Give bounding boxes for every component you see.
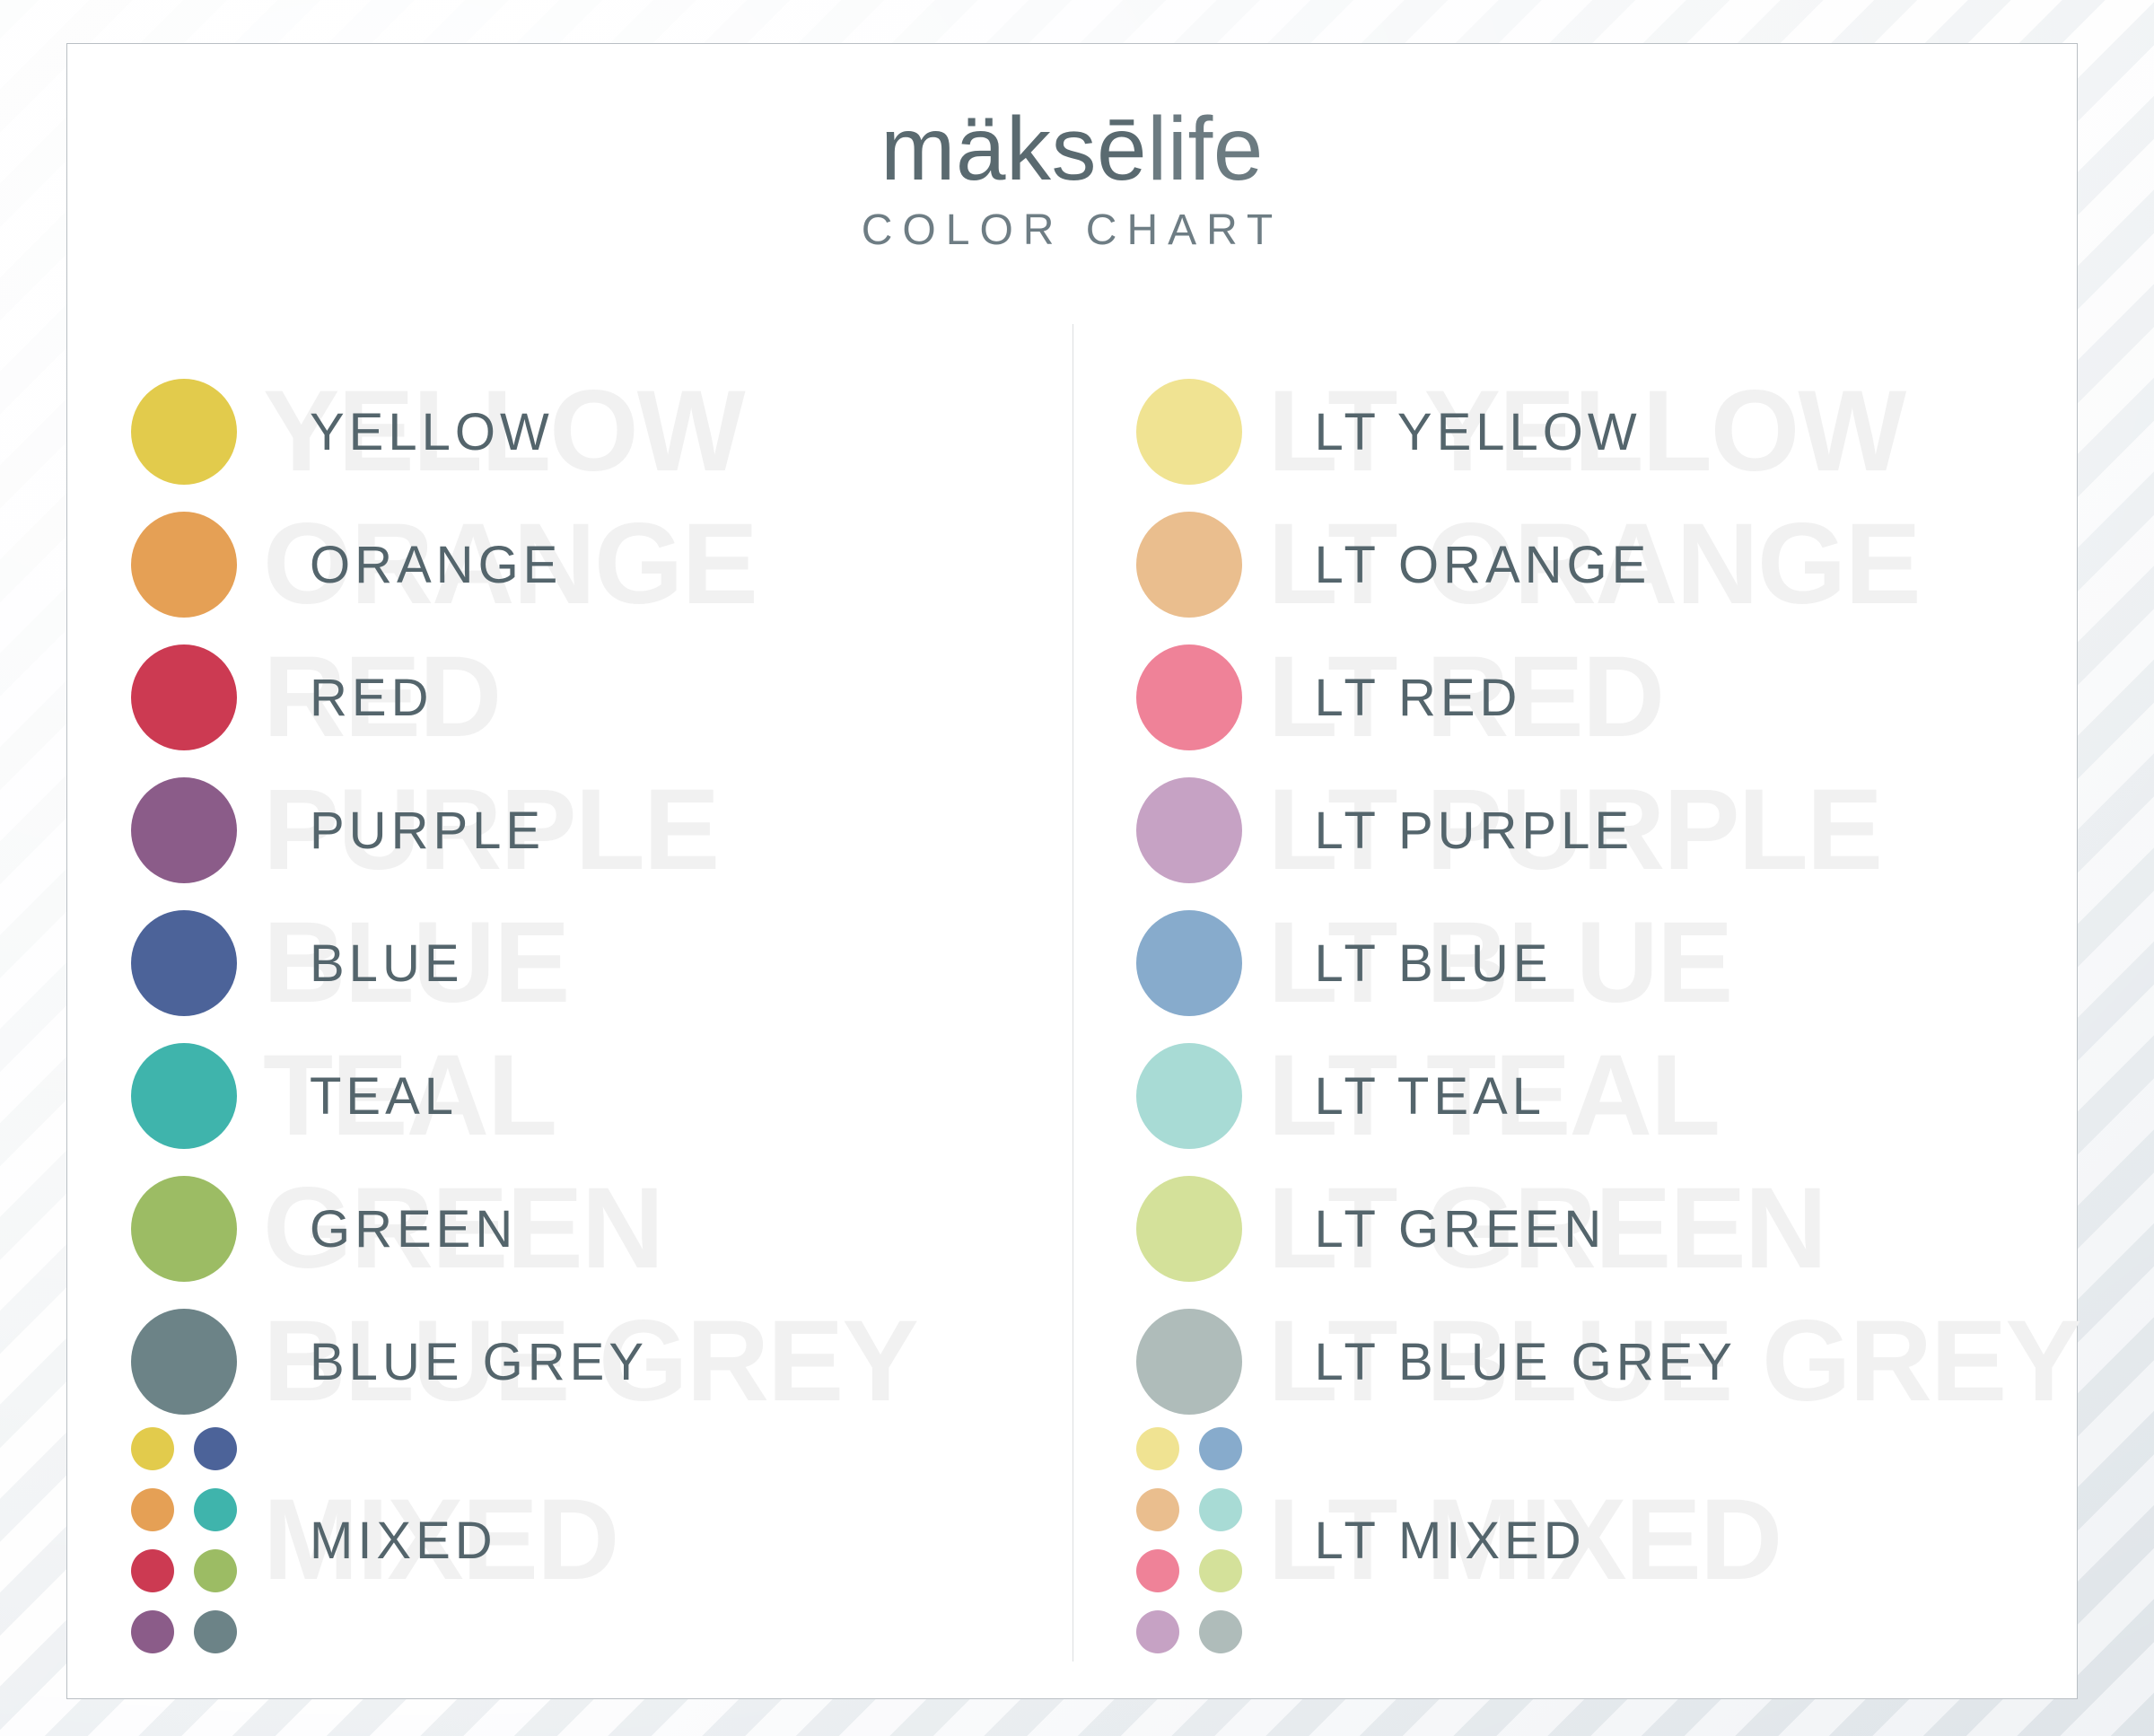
color-label-wrap: REDRED	[263, 631, 1073, 764]
color-row: LT REDLT RED	[1073, 631, 2078, 764]
color-swatch-dot	[131, 379, 237, 485]
page-title: COLOR CHART	[67, 206, 2077, 255]
column-light-colors: LT YELLOWLT YELLOWLT ORANGELT ORANGELT R…	[1073, 313, 2078, 1653]
color-swatch-dot	[1136, 644, 1242, 750]
color-swatch-cell	[1110, 1427, 1268, 1653]
color-swatch-dot	[131, 1176, 237, 1282]
color-row: LT YELLOWLT YELLOW	[1073, 365, 2078, 498]
color-label-wrap: LT REDLT RED	[1268, 631, 2078, 764]
mixed-swatch-dot	[131, 1610, 174, 1653]
color-row: PURPLEPURPLE	[67, 764, 1073, 897]
color-swatch-cell	[1110, 512, 1268, 618]
brand-logo-life: life	[1147, 99, 1264, 199]
color-row: LT TEALLT TEAL	[1073, 1030, 2078, 1162]
color-label-wrap: LT GREENLT GREEN	[1268, 1162, 2078, 1295]
color-chart-card: mäksēlife COLOR CHART YELLOWYELLOWORANGE…	[66, 43, 2078, 1699]
color-swatch-dot	[131, 777, 237, 883]
column-standard-colors: YELLOWYELLOWORANGEORANGEREDREDPURPLEPURP…	[67, 313, 1073, 1653]
color-swatch-cell	[105, 1043, 263, 1149]
color-label: LT PURPLE	[1315, 801, 1634, 861]
mixed-swatch-dot	[131, 1427, 174, 1470]
color-swatch-dot	[1136, 910, 1242, 1016]
color-label-wrap: LT BLUELT BLUE	[1268, 897, 2078, 1030]
color-swatch-dot	[1136, 379, 1242, 485]
color-label-wrap: LT ORANGELT ORANGE	[1268, 498, 2078, 631]
mixed-swatch-dot	[1199, 1427, 1242, 1470]
mixed-swatch-grid	[131, 1427, 237, 1653]
color-swatch-cell	[105, 1427, 263, 1653]
color-swatch-cell	[105, 910, 263, 1016]
color-row: LT GREENLT GREEN	[1073, 1162, 2078, 1295]
mixed-swatch-dot	[1136, 1549, 1179, 1592]
color-label-wrap: LT PURPLELT PURPLE	[1268, 764, 2078, 897]
color-label-wrap: LT MIXEDLT MIXED	[1268, 1428, 2078, 1653]
color-row: LT BLUE GREYLT BLUE GREY	[1073, 1295, 2078, 1428]
color-label: LT GREEN	[1315, 1199, 1607, 1259]
color-label-wrap: BLUEBLUE	[263, 897, 1073, 1030]
mixed-swatch-dot	[131, 1549, 174, 1592]
color-label-wrap: BLUE GREYBLUE GREY	[263, 1295, 1073, 1428]
color-swatch-dot	[131, 1043, 237, 1149]
color-label: LT MIXED	[1315, 1511, 1586, 1571]
color-label: TEAL	[310, 1066, 458, 1127]
color-label-wrap: MIXEDMIXED	[263, 1428, 1073, 1653]
color-row: LT MIXEDLT MIXED	[1073, 1428, 2078, 1653]
color-label: YELLOW	[310, 402, 554, 462]
color-swatch-cell	[1110, 910, 1268, 1016]
color-label: LT ORANGE	[1315, 535, 1651, 595]
color-swatch-dot	[1136, 1309, 1242, 1415]
color-label: LT TEAL	[1315, 1066, 1545, 1127]
color-label-wrap: LT YELLOWLT YELLOW	[1268, 365, 2078, 498]
color-swatch-cell	[1110, 1043, 1268, 1149]
color-swatch-dot	[131, 910, 237, 1016]
color-swatch-dot	[1136, 1176, 1242, 1282]
color-label-wrap: GREENGREEN	[263, 1162, 1073, 1295]
color-row: BLUEBLUE	[67, 897, 1073, 1030]
color-swatch-dot	[131, 644, 237, 750]
color-row: GREENGREEN	[67, 1162, 1073, 1295]
color-row: LT ORANGELT ORANGE	[1073, 498, 2078, 631]
color-row: MIXEDMIXED	[67, 1428, 1073, 1653]
mixed-swatch-dot	[1199, 1488, 1242, 1531]
color-label: GREEN	[310, 1199, 517, 1259]
mixed-swatch-dot	[194, 1549, 237, 1592]
color-swatch-cell	[1110, 1309, 1268, 1415]
color-row: YELLOWYELLOW	[67, 365, 1073, 498]
color-swatch-dot	[131, 1309, 237, 1415]
mixed-swatch-dot	[194, 1488, 237, 1531]
color-label: LT YELLOW	[1315, 402, 1642, 462]
mixed-swatch-dot	[1199, 1549, 1242, 1592]
color-label-wrap: YELLOWYELLOW	[263, 365, 1073, 498]
color-row: REDRED	[67, 631, 1073, 764]
color-label-wrap: TEALTEAL	[263, 1030, 1073, 1162]
color-label: BLUE GREY	[310, 1332, 648, 1392]
color-row: BLUE GREYBLUE GREY	[67, 1295, 1073, 1428]
color-swatch-cell	[1110, 644, 1268, 750]
color-label-wrap: ORANGEORANGE	[263, 498, 1073, 631]
color-swatch-dot	[1136, 1043, 1242, 1149]
mixed-swatch-dot	[1136, 1488, 1179, 1531]
color-row: ORANGEORANGE	[67, 498, 1073, 631]
mixed-swatch-dot	[1136, 1427, 1179, 1470]
color-swatch-cell	[105, 1176, 263, 1282]
color-columns: YELLOWYELLOWORANGEORANGEREDREDPURPLEPURP…	[67, 313, 2077, 1653]
color-swatch-dot	[1136, 512, 1242, 618]
color-row: LT PURPLELT PURPLE	[1073, 764, 2078, 897]
mixed-swatch-dot	[1199, 1610, 1242, 1653]
color-swatch-cell	[105, 379, 263, 485]
brand-logo: mäksēlife	[67, 103, 2077, 195]
mixed-swatch-grid	[1136, 1427, 1242, 1653]
color-swatch-cell	[105, 512, 263, 618]
color-label: LT BLUE GREY	[1315, 1332, 1737, 1392]
brand-logo-mak: mäksē	[880, 99, 1147, 199]
mixed-swatch-dot	[194, 1610, 237, 1653]
color-row: TEALTEAL	[67, 1030, 1073, 1162]
color-swatch-cell	[1110, 777, 1268, 883]
color-label-wrap: LT TEALLT TEAL	[1268, 1030, 2078, 1162]
color-swatch-dot	[131, 512, 237, 618]
color-row: LT BLUELT BLUE	[1073, 897, 2078, 1030]
color-swatch-cell	[1110, 1176, 1268, 1282]
color-swatch-cell	[105, 777, 263, 883]
color-label-wrap: LT BLUE GREYLT BLUE GREY	[1268, 1295, 2078, 1428]
color-label: LT BLUE	[1315, 934, 1553, 994]
color-label: RED	[310, 668, 433, 728]
color-swatch-cell	[105, 644, 263, 750]
color-label-wrap: PURPLEPURPLE	[263, 764, 1073, 897]
color-label: MIXED	[310, 1511, 497, 1571]
color-swatch-dot	[1136, 777, 1242, 883]
color-label: LT RED	[1315, 668, 1522, 728]
chart-header: mäksēlife COLOR CHART	[67, 103, 2077, 255]
mixed-swatch-dot	[1136, 1610, 1179, 1653]
mixed-swatch-dot	[131, 1488, 174, 1531]
color-label: ORANGE	[310, 535, 562, 595]
color-label: PURPLE	[310, 801, 545, 861]
color-swatch-cell	[105, 1309, 263, 1415]
mixed-swatch-dot	[194, 1427, 237, 1470]
color-label: BLUE	[310, 934, 464, 994]
color-swatch-cell	[1110, 379, 1268, 485]
